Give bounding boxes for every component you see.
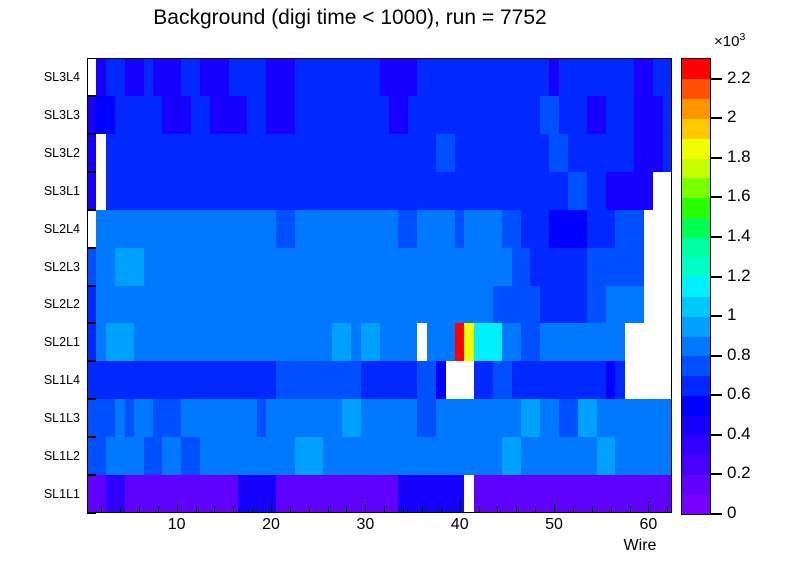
y-axis-tick bbox=[87, 322, 96, 324]
heatmap-cell bbox=[663, 286, 672, 325]
y-axis-tick bbox=[87, 209, 96, 211]
color-scale-tick-label: 0.4 bbox=[727, 424, 751, 444]
x-axis-minor-tick bbox=[252, 506, 253, 513]
color-scale-tick bbox=[711, 276, 722, 278]
x-axis-minor-tick bbox=[196, 506, 197, 513]
y-axis-label: SL1L2 bbox=[44, 449, 80, 463]
color-scale-band bbox=[682, 395, 710, 415]
y-axis-tick bbox=[87, 512, 96, 514]
color-scale-band bbox=[682, 59, 710, 79]
color-scale-tick-label: 0 bbox=[727, 503, 736, 523]
x-axis-major-tick bbox=[177, 501, 178, 513]
color-scale-tick-label: 1 bbox=[727, 305, 736, 325]
x-axis-minor-tick bbox=[101, 506, 102, 513]
heatmap-cell bbox=[663, 323, 672, 362]
color-scale-band bbox=[682, 277, 710, 297]
heatmap-cell bbox=[663, 58, 672, 97]
color-scale-band bbox=[682, 237, 710, 257]
color-scale-tick bbox=[711, 473, 722, 475]
color-scale-band bbox=[682, 356, 710, 376]
color-scale-tick-label: 1.8 bbox=[727, 147, 751, 167]
x-axis-minor-tick bbox=[667, 506, 668, 513]
x-axis-minor-tick bbox=[497, 506, 498, 513]
color-scale-tick-label: 2.2 bbox=[727, 68, 751, 88]
x-axis-tick-label: 20 bbox=[262, 516, 280, 534]
y-axis-tick bbox=[87, 285, 96, 287]
y-axis-label: SL1L3 bbox=[44, 411, 80, 425]
y-axis-label: SL3L2 bbox=[44, 146, 80, 160]
y-axis-label: SL3L1 bbox=[44, 184, 80, 198]
x-axis-tick-label: 50 bbox=[545, 516, 563, 534]
y-axis-tick bbox=[87, 398, 96, 400]
heatmap-cell bbox=[663, 248, 672, 287]
color-scale-tick bbox=[711, 355, 722, 357]
color-scale-band bbox=[682, 455, 710, 475]
color-scale-band bbox=[682, 376, 710, 396]
color-scale-band bbox=[682, 415, 710, 435]
color-scale-tick-label: 2 bbox=[727, 107, 736, 127]
heatmap-plot-area[interactable] bbox=[87, 58, 672, 513]
x-axis-minor-tick bbox=[535, 506, 536, 513]
x-axis-minor-tick bbox=[516, 506, 517, 513]
y-axis-label: SL2L3 bbox=[44, 260, 80, 274]
color-scale-tick-label: 0.2 bbox=[727, 463, 751, 483]
y-axis-label: SL2L2 bbox=[44, 297, 80, 311]
x-axis-tick-label: 30 bbox=[356, 516, 374, 534]
y-axis-labels: SL3L4SL3L3SL3L2SL3L1SL2L4SL2L3SL2L2SL2L1… bbox=[0, 0, 80, 572]
color-scale-band bbox=[682, 197, 710, 217]
color-scale-band bbox=[682, 435, 710, 455]
color-scale-band bbox=[682, 118, 710, 138]
color-scale-band bbox=[682, 158, 710, 178]
color-scale-band bbox=[682, 296, 710, 316]
y-axis-tick bbox=[87, 133, 96, 135]
color-scale-tick bbox=[711, 117, 722, 119]
y-axis-label: SL1L1 bbox=[44, 487, 80, 501]
x-axis-major-tick bbox=[365, 501, 366, 513]
color-scale-tick-label: 1.4 bbox=[727, 226, 751, 246]
color-scale-band bbox=[682, 178, 710, 198]
x-axis-major-tick bbox=[460, 501, 461, 513]
color-scale-band bbox=[682, 474, 710, 494]
x-axis-major-tick bbox=[554, 501, 555, 513]
y-axis-tick bbox=[87, 171, 96, 173]
color-scale-tick bbox=[711, 78, 722, 80]
heatmap-cell bbox=[663, 399, 672, 438]
color-scale-tick-label: 0.6 bbox=[727, 384, 751, 404]
y-axis-label: SL1L4 bbox=[44, 373, 80, 387]
x-axis-minor-tick bbox=[214, 506, 215, 513]
heatmap-cell bbox=[663, 134, 672, 173]
x-axis-minor-tick bbox=[328, 506, 329, 513]
color-scale-tick-label: 1.2 bbox=[727, 266, 751, 286]
x-axis-tick-label: 10 bbox=[168, 516, 186, 534]
color-scale-band bbox=[682, 217, 710, 237]
x-axis-minor-tick bbox=[573, 506, 574, 513]
color-scale-band bbox=[682, 257, 710, 277]
x-axis-minor-tick bbox=[630, 506, 631, 513]
x-axis-minor-tick bbox=[309, 506, 310, 513]
color-scale-band bbox=[682, 316, 710, 336]
x-axis-minor-tick bbox=[158, 506, 159, 513]
y-axis-tick bbox=[87, 474, 96, 476]
chart-title: Background (digi time < 1000), run = 775… bbox=[0, 6, 700, 30]
x-axis-title: Wire bbox=[624, 537, 657, 555]
x-axis-tick-label: 40 bbox=[451, 516, 469, 534]
y-axis-tick bbox=[87, 436, 96, 438]
x-axis-minor-tick bbox=[592, 506, 593, 513]
color-scale-tick bbox=[711, 196, 722, 198]
color-scale-tick-label: 1.6 bbox=[727, 186, 751, 206]
y-axis-label: SL3L4 bbox=[44, 70, 80, 84]
heatmap-cell bbox=[663, 361, 672, 400]
heatmap-cell bbox=[663, 437, 672, 476]
x-axis-minor-tick bbox=[346, 506, 347, 513]
color-scale-band bbox=[682, 99, 710, 119]
color-scale-tick bbox=[711, 434, 722, 436]
heatmap-cell bbox=[663, 96, 672, 135]
chart-canvas: Background (digi time < 1000), run = 775… bbox=[0, 0, 796, 572]
x-axis-minor-tick bbox=[422, 506, 423, 513]
y-axis-tick bbox=[87, 360, 96, 362]
x-axis-minor-tick bbox=[384, 506, 385, 513]
x-axis-minor-tick bbox=[479, 506, 480, 513]
color-scale-tick bbox=[711, 513, 722, 515]
y-axis-label: SL3L3 bbox=[44, 108, 80, 122]
color-scale-band bbox=[682, 138, 710, 158]
x-axis-minor-tick bbox=[611, 506, 612, 513]
y-axis-tick bbox=[87, 95, 96, 97]
y-axis-tick bbox=[87, 247, 96, 249]
x-axis-minor-tick bbox=[120, 506, 121, 513]
color-scale-tick bbox=[711, 394, 722, 396]
x-axis-minor-tick bbox=[403, 506, 404, 513]
y-axis-label: SL2L1 bbox=[44, 335, 80, 349]
color-scale-band bbox=[682, 494, 710, 514]
color-scale-bar bbox=[681, 58, 711, 515]
color-scale-tick bbox=[711, 157, 722, 159]
x-axis-major-tick bbox=[648, 501, 649, 513]
color-scale-band bbox=[682, 79, 710, 99]
x-axis-major-tick bbox=[271, 501, 272, 513]
color-scale-tick bbox=[711, 315, 722, 317]
heatmap-cell bbox=[663, 210, 672, 249]
color-scale-band bbox=[682, 336, 710, 356]
x-axis-tick-label: 60 bbox=[640, 516, 658, 534]
heatmap-cell bbox=[663, 172, 672, 211]
y-axis-label: SL2L4 bbox=[44, 222, 80, 236]
x-axis-minor-tick bbox=[441, 506, 442, 513]
color-scale-tick-label: 0.8 bbox=[727, 345, 751, 365]
x-axis-minor-tick bbox=[139, 506, 140, 513]
color-scale-tick bbox=[711, 236, 722, 238]
x-axis-minor-tick bbox=[233, 506, 234, 513]
x-axis-minor-tick bbox=[290, 506, 291, 513]
color-scale-exponent: ×103 bbox=[714, 31, 745, 50]
